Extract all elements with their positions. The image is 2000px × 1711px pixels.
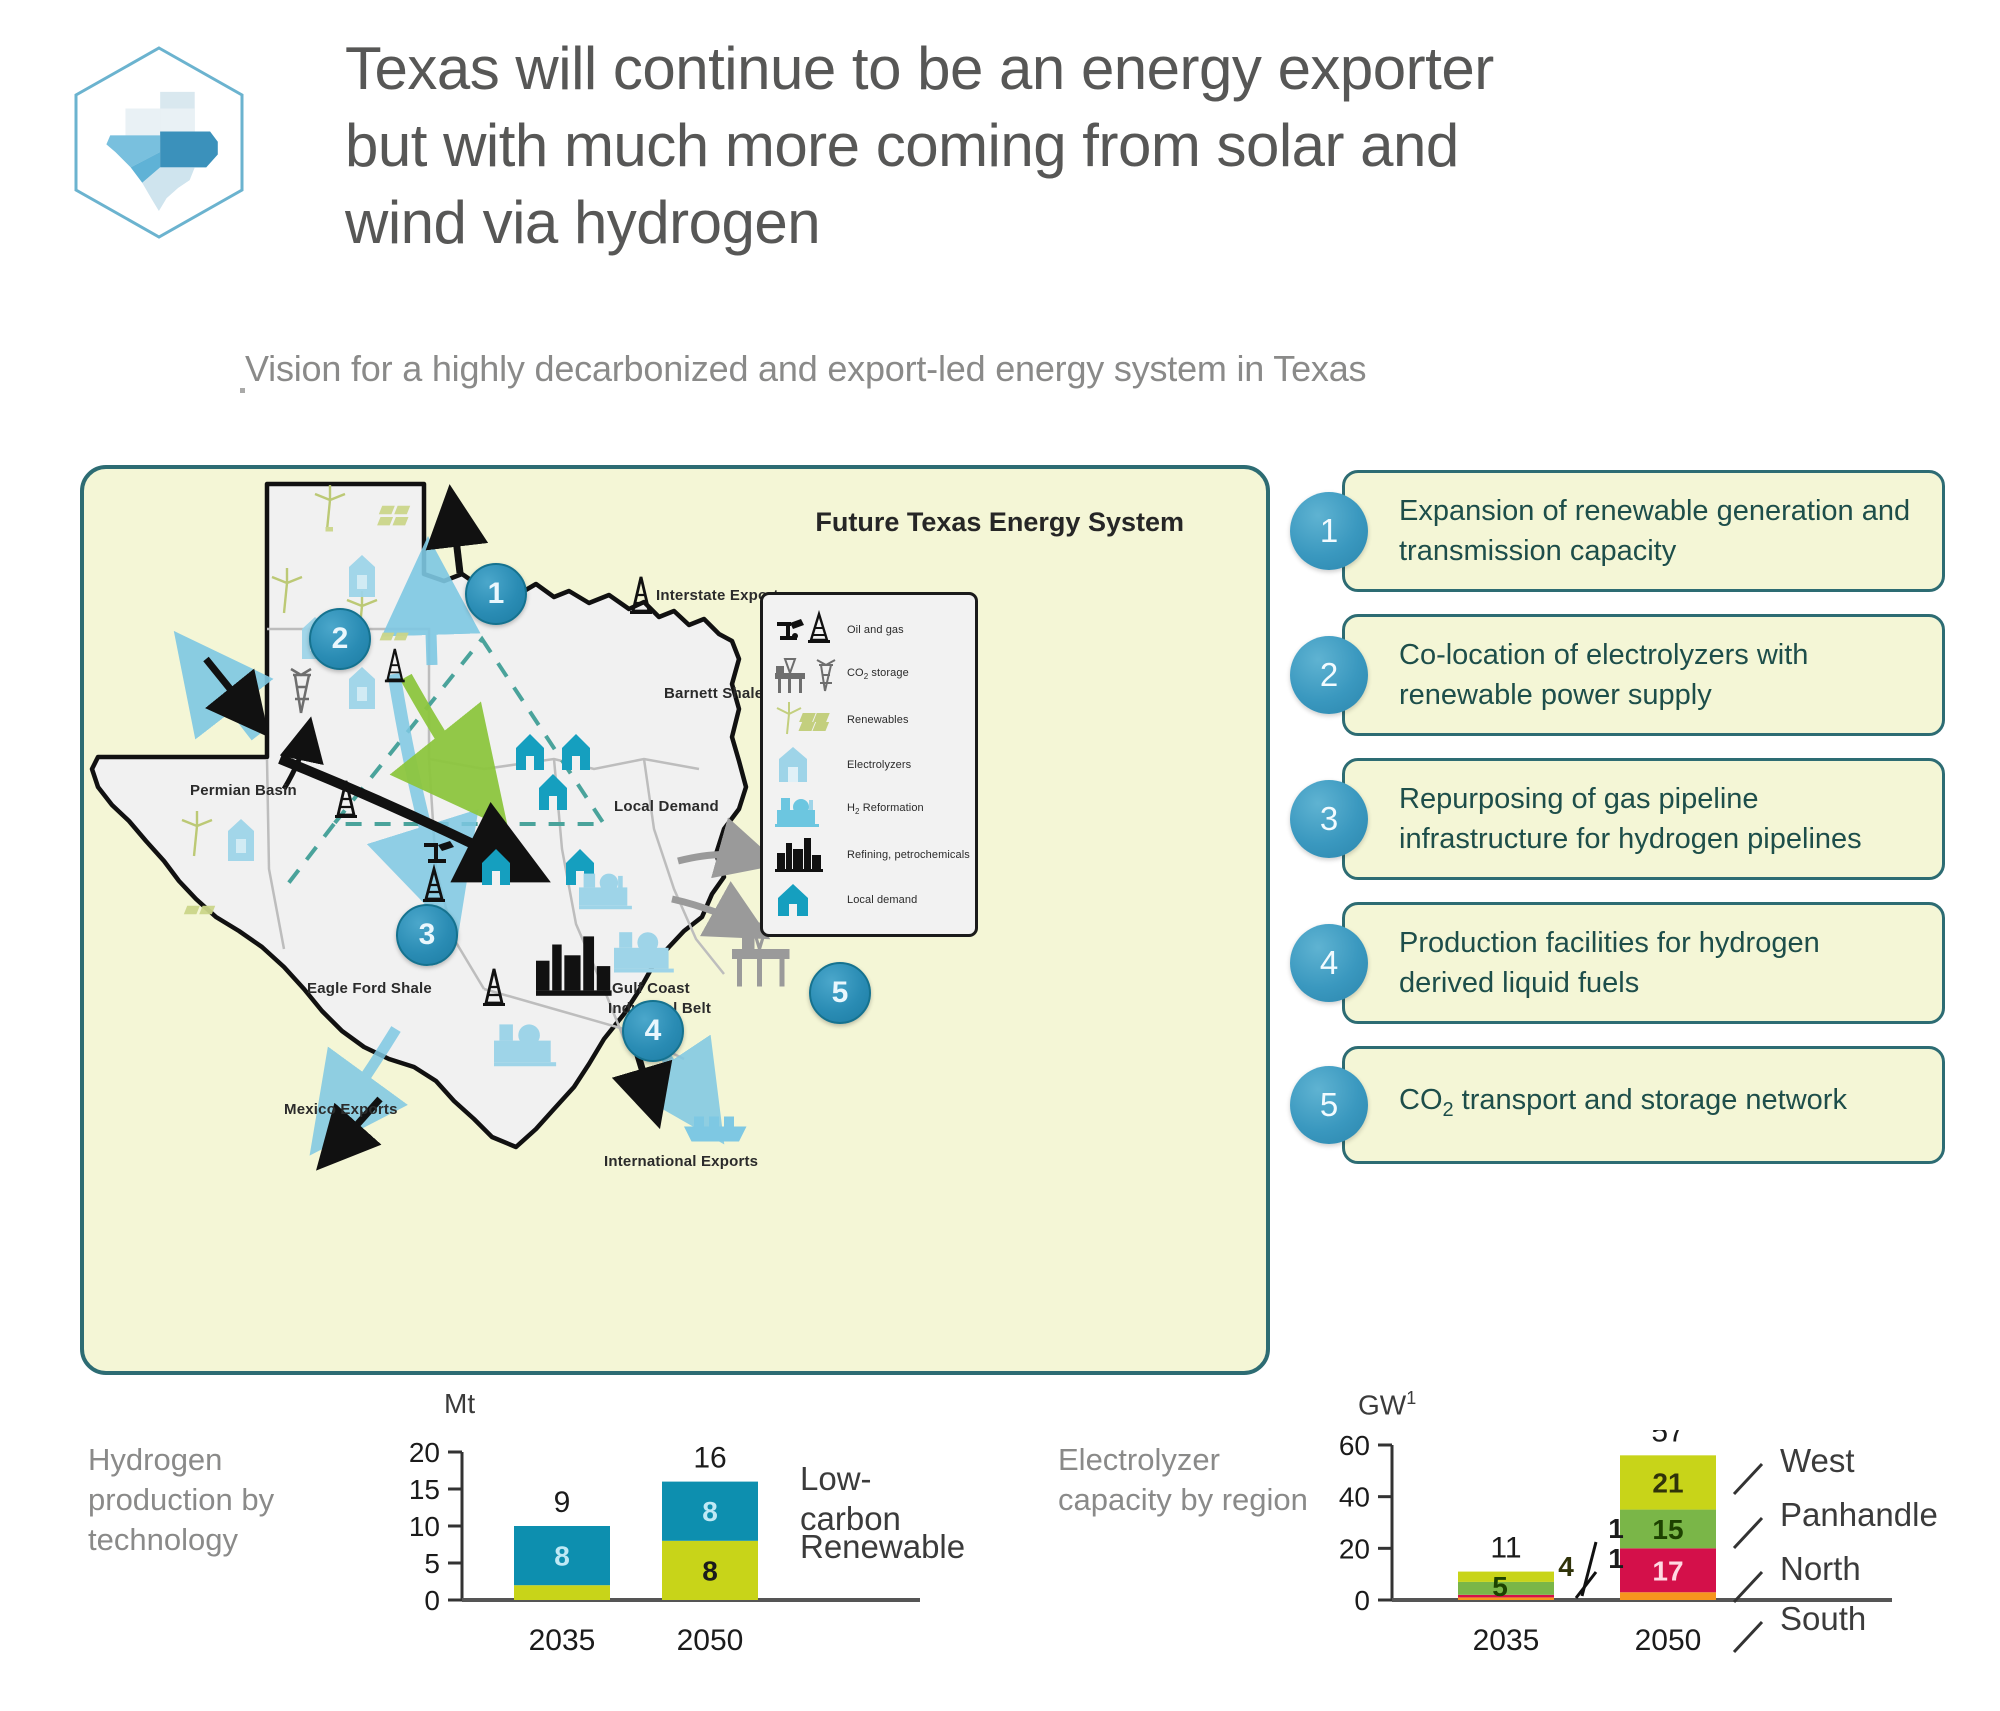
callout-item-3[interactable]: Repurposing of gas pipeline infrastructu…: [1290, 758, 1945, 880]
legend-label-oil-and-gas: Oil and gas: [847, 624, 904, 636]
legend-row-refining-petrochemicals: Refining, petrochemicals: [773, 832, 965, 877]
map-badge-5[interactable]: 5: [809, 962, 871, 1024]
bar-total-label: 16: [693, 1442, 726, 1475]
title-line-3: wind via hydrogen: [345, 184, 1585, 261]
map-legend: Oil and gas: [760, 592, 978, 937]
legend-row-co2-storage: CO2 storage: [773, 652, 965, 697]
callout-item-1[interactable]: Expansion of renewable generation and tr…: [1290, 470, 1945, 592]
oil-and-gas-icon: [773, 610, 847, 650]
y-tick-label: 40: [1339, 1482, 1370, 1513]
bar-segment-label-small: 1: [1608, 1543, 1624, 1574]
map-label-barnett-shale: Barnett Shale: [664, 685, 763, 702]
legend-label-refining-petrochemicals: Refining, petrochemicals: [847, 849, 970, 861]
bar-segment: [1620, 1592, 1716, 1600]
callout-item-4[interactable]: Production facilities for hydrogen deriv…: [1290, 902, 1945, 1024]
refining-petrochemicals-icon: [773, 835, 847, 875]
bar-segment-label: 17: [1652, 1555, 1683, 1586]
bar-segment-label: 8: [702, 1496, 718, 1527]
map-title: Future Texas Energy System: [815, 507, 1184, 538]
legend-row-electrolyzers: Electrolyzers: [773, 742, 965, 787]
map-label-gulf-coast-line-1: Gulf Coast: [612, 980, 690, 997]
map-panel: Future Texas Energy System Interstate Ex…: [80, 465, 1270, 1375]
callout-number-2: 2: [1290, 636, 1368, 714]
map-badge-3[interactable]: 3: [396, 904, 458, 966]
bar-total-label: 11: [1490, 1532, 1521, 1565]
callout-item-2[interactable]: Co-location of electrolyzers with renewa…: [1290, 614, 1945, 736]
texas-hexagon-logo: [52, 38, 267, 253]
infographic-page: Texas will continue to be an energy expo…: [0, 0, 2000, 1711]
legend-row-oil-and-gas: Oil and gas: [773, 607, 965, 652]
x-category-label: 2050: [677, 1624, 744, 1657]
legend-label-co2-storage: CO2 storage: [847, 667, 909, 681]
callout-item-5[interactable]: CO2 transport and storage network 5: [1290, 1046, 1945, 1164]
bar-segment-label: 15: [1652, 1514, 1683, 1545]
y-tick-label: 10: [409, 1511, 440, 1542]
title-line-1: Texas will continue to be an energy expo…: [345, 30, 1585, 107]
callout-number-4: 4: [1290, 924, 1368, 1002]
renewables-icon: [773, 700, 847, 740]
y-tick-label: 20: [1339, 1533, 1370, 1564]
y-tick-label: 0: [1354, 1585, 1370, 1616]
region-legend-label: Panhandle: [1780, 1496, 1938, 1533]
electrolyzer-capacity-chart: 02040601120351715215720505411WestPanhand…: [1310, 1430, 1980, 1710]
co2-storage-icon: [773, 655, 847, 695]
electrolyzers-icon: [773, 745, 847, 785]
series-legend-label: Renewable: [800, 1528, 965, 1565]
map-label-local-demand: Local Demand: [614, 798, 719, 815]
bar-total-label: 9: [554, 1486, 571, 1519]
legend-row-h2-reformation: H2 Reformation: [773, 787, 965, 832]
bar-segment-label-small: 1: [1608, 1513, 1624, 1544]
map-label-mexico-exports: Mexico Exports: [284, 1101, 398, 1118]
bar-segment: [514, 1585, 610, 1600]
chart-1-y-unit: Mt: [444, 1388, 475, 1420]
callout-number-3: 3: [1290, 780, 1368, 858]
x-category-label: 2035: [1473, 1624, 1540, 1657]
callout-number-5: 5: [1290, 1066, 1368, 1144]
page-title: Texas will continue to be an energy expo…: [345, 30, 1585, 261]
page-subtitle: Vision for a highly decarbonized and exp…: [245, 348, 1366, 390]
y-tick-label: 15: [409, 1474, 440, 1505]
map-label-permian-basin: Permian Basin: [190, 782, 297, 799]
series-legend-label: Low-: [800, 1460, 872, 1497]
hydrogen-production-chart: 0510152089203588162050Low-carbonRenewabl…: [390, 1430, 990, 1710]
chart-2-plot: 02040601120351715215720505411WestPanhand…: [1310, 1430, 1980, 1660]
map-badge-4[interactable]: 4: [622, 1000, 684, 1062]
region-legend-label: South: [1780, 1600, 1866, 1637]
h2-reformation-icon: [773, 790, 847, 830]
map-label-international-exports: International Exports: [604, 1153, 758, 1170]
bar-segment-label-small: 5: [1492, 1571, 1508, 1602]
legend-row-local-demand: Local demand: [773, 877, 965, 922]
bar-segment-label: 21: [1652, 1467, 1683, 1498]
callout-list: Expansion of renewable generation and tr…: [1290, 470, 1945, 1186]
bar-segment-label: 8: [554, 1541, 570, 1572]
title-line-2: but with much more coming from solar and: [345, 107, 1585, 184]
region-legend-label: West: [1780, 1442, 1855, 1479]
map-badge-1[interactable]: 1: [465, 563, 527, 625]
legend-label-h2-reformation: H2 Reformation: [847, 802, 924, 816]
chart-2-y-unit: GW1: [1358, 1388, 1416, 1421]
x-category-label: 2050: [1635, 1624, 1702, 1657]
callout-text-2: Co-location of electrolyzers with renewa…: [1399, 635, 1920, 715]
local-demand-icon: [773, 880, 847, 920]
bar-total-label: 57: [1651, 1430, 1684, 1448]
texas-map-graphic: [84, 469, 1274, 1379]
legend-label-renewables: Renewables: [847, 714, 909, 726]
callout-text-5: CO2 transport and storage network: [1399, 1080, 1847, 1130]
y-tick-label: 0: [424, 1585, 440, 1616]
callout-text-1: Expansion of renewable generation and tr…: [1399, 491, 1920, 571]
y-tick-label: 5: [424, 1548, 440, 1579]
x-category-label: 2035: [529, 1624, 596, 1657]
y-tick-label: 60: [1339, 1430, 1370, 1461]
legend-row-renewables: Renewables: [773, 697, 965, 742]
bar-segment-label-small: 4: [1558, 1551, 1574, 1582]
map-badge-2[interactable]: 2: [309, 608, 371, 670]
map-label-eagle-ford-shale: Eagle Ford Shale: [307, 980, 432, 997]
legend-label-local-demand: Local demand: [847, 894, 917, 906]
y-tick-label: 20: [409, 1437, 440, 1468]
chart-1-title: Hydrogen production by technology: [88, 1440, 368, 1560]
region-legend-label: North: [1780, 1550, 1861, 1587]
callout-text-3: Repurposing of gas pipeline infrastructu…: [1399, 779, 1920, 859]
chart-2-title: Electrolyzer capacity by region: [1058, 1440, 1318, 1520]
chart-1-plot: 0510152089203588162050Low-carbonRenewabl…: [390, 1430, 990, 1660]
legend-label-electrolyzers: Electrolyzers: [847, 759, 911, 771]
callout-number-1: 1: [1290, 492, 1368, 570]
callout-text-4: Production facilities for hydrogen deriv…: [1399, 923, 1920, 1003]
bar-segment-label: 8: [702, 1555, 718, 1586]
